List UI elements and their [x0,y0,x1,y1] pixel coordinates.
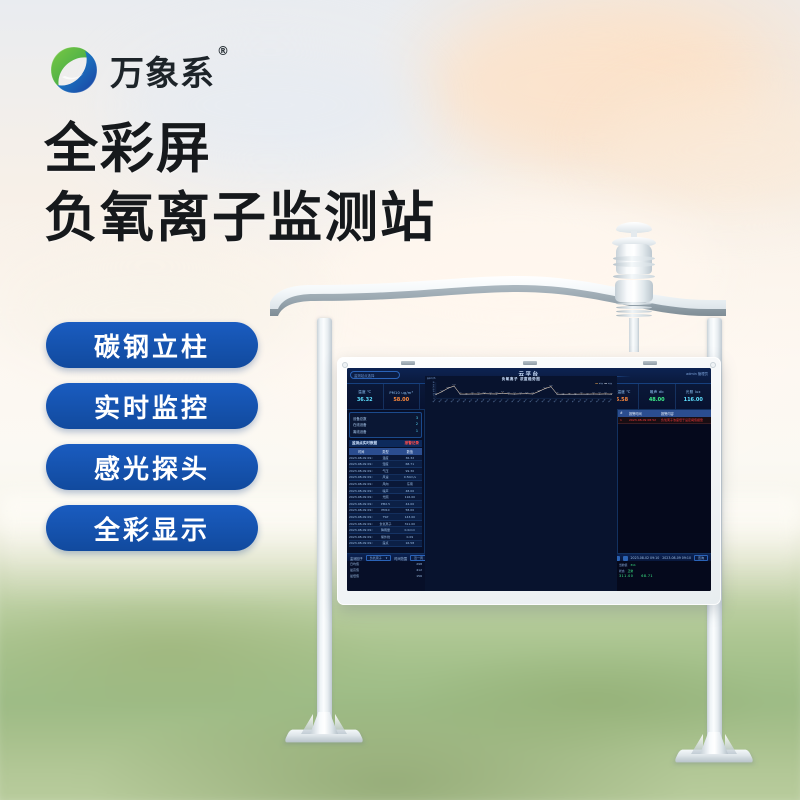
table-body: 2023-08-09 09:10温度36.322023-08-09 09:10湿… [349,455,422,547]
table-row[interactable]: 2023-08-09 09:10TSP143.00 [349,514,422,521]
alarm-cell: 2023-08-09 08:52 [627,417,659,423]
feature-badge-3[interactable]: 感光探头 [46,444,258,490]
side-stat-label: 日均值 [350,562,359,566]
alarm-column-headers: #报警时间报警内容 [618,410,711,417]
alarm-row[interactable]: 12023-08-09 08:52负氧离子浓度低于设定阈值报警 [618,417,711,424]
feature-badge-label: 感光探头 [94,449,210,486]
metric-value: 58.00 [393,397,409,403]
right-stat-label: 状态 [619,569,625,573]
table-row[interactable]: 2023-08-09 09:10降雨量0.0mm [349,527,422,534]
metric-card-1: 温度 ℃36.32 [347,384,384,409]
headline-line-2: 负氧离子监测站 [44,189,436,246]
table-cell: 负氧离子 [373,521,397,527]
table-row[interactable]: 2023-08-09 09:10PM1058.00 [349,508,422,515]
table-cell: 143.00 [398,514,422,520]
side-stat-row: 最低值156 [347,573,425,579]
globe-swirl-logo-icon [48,44,100,96]
table-cell: 2023-08-09 09:10 [349,455,373,461]
table-cell: 噪声 [373,488,397,494]
device-stat-row: 在线设备2 [353,422,418,429]
range-select-value: 近一周 [414,556,423,560]
feature-badge-label: 实时监控 [94,388,210,425]
table-cell: 2023-08-09 09:10 [349,488,373,494]
table-cell: 露点 [373,541,397,547]
control-label-right: 时间范围 [394,556,407,561]
metric-label: 温度 ℃ [358,390,371,395]
table-cell: PM2.5 [373,501,397,507]
table-cell: 气压 [373,468,397,474]
chevron-down-icon: ▾ [386,556,388,560]
table-cell: 降雨量 [373,527,397,533]
table-cell: 36.32 [398,455,422,461]
user-label[interactable]: admin 管理员 [686,371,708,376]
metric-card-2: PM10 ug/m³58.00 [384,384,421,409]
table-heading: 监测点实时数据 [352,441,377,446]
alarm-cell: 负氧离子浓度低于设定阈值报警 [659,417,711,423]
table-cell: PM10 [373,508,397,514]
right-stat-row: 状态正常 [619,569,709,573]
alarm-column-header: 报警内容 [659,410,711,417]
carbon-steel-post-left [317,318,332,724]
table-cell: 2023-08-09 09:10 [349,514,373,520]
table-cell: 99.30 [398,468,422,474]
data-table-header: 监测点实时数据 报警记录 [349,440,422,447]
table-cell: 2023-08-09 09:10 [349,501,373,507]
feature-badge-1[interactable]: 碳钢立柱 [46,322,258,368]
table-cell: 0.0mm [398,527,422,533]
side-stat-value: 412 [416,568,422,572]
feature-badge-2[interactable]: 实时监控 [46,383,258,429]
chart-right-stats: 当前值311状态正常311.0068.71 [617,561,711,591]
device-stat-row: 设备总数3 [353,415,418,422]
device-stats-box: 设备总数3在线设备2离线设备1 [349,412,422,438]
ultrasonic-weather-sensor [604,222,664,322]
table-cell: 2023-08-09 09:10 [349,461,373,467]
metric-label: 噪声 db [650,390,664,395]
table-cell: 0.09 [398,534,422,540]
segment-value: 311.00 [619,574,633,578]
refresh-button[interactable] [623,556,628,561]
table-cell: 2023-08-09 09:10 [349,534,373,540]
brand-name: 万象系 ® [110,46,215,95]
right-segment-display: 311.0068.71 [619,574,709,578]
feature-badge-4[interactable]: 全彩显示 [46,505,258,551]
side-stat-value: 298 [416,562,422,566]
feature-badge-label: 全彩显示 [94,510,210,547]
led-display-monitor: 监测站点选择 云平台 admin 管理员 温度 ℃36.32PM10 ug/m³… [337,357,721,605]
table-cell: 紫外线 [373,534,397,540]
metric-card-10: 光照 lux116.00 [676,384,712,409]
side-stat-label: 最低值 [350,574,359,578]
table-row[interactable]: 2023-08-09 09:10光照116.00 [349,494,422,501]
table-cell: 16.58 [398,541,422,547]
segment-value: 68.71 [641,574,653,578]
dashboard-screen: 监测站点选择 云平台 admin 管理员 温度 ℃36.32PM10 ug/m³… [347,368,711,591]
table-cell: TSP [373,514,397,520]
metric-value: 36.32 [357,397,373,403]
table-row[interactable]: 2023-08-09 09:10温度36.32 [349,455,422,462]
registered-trademark: ® [217,44,230,58]
alarm-column-header: 报警时间 [627,410,659,417]
table-cell: 116.00 [398,494,422,500]
table-cell: 东南 [398,481,422,487]
stat-value: 3 [416,416,418,421]
table-column-header: 类型 [373,448,397,455]
table-row[interactable]: 2023-08-09 09:10气压99.30 [349,468,422,475]
table-cell: 2023-08-09 09:10 [349,475,373,481]
side-stat-label: 最高值 [350,568,359,572]
stat-value: 2 [416,422,418,427]
table-column-header: 时间 [349,448,373,455]
table-cell: 风速 [373,475,397,481]
metric-value: 116.00 [684,397,703,403]
table-cell: 2023-08-09 09:10 [349,527,373,533]
chart-section: 监测因子 负氧离子 ▾ 时间范围 近一周 ▾ 2023-08-02 09:10 … [347,553,711,591]
metric-label: PM10 ug/m³ [389,391,413,395]
right-stat-label: 当前值 [619,563,627,567]
device-stat-row: 离线设备1 [353,428,418,435]
table-cell: 311.00 [398,521,422,527]
stat-label: 在线设备 [353,422,367,427]
table-row[interactable]: 2023-08-09 09:10紫外线0.09 [349,534,422,541]
feature-badge-label: 碳钢立柱 [94,327,210,364]
right-stat-value: 正常 [628,569,634,573]
alarm-tag[interactable]: 报警记录 [405,441,419,446]
brand-lockup: 万象系 ® [48,44,215,96]
base-plate-left [287,712,361,748]
alarm-column-header: # [618,410,627,417]
factor-select-value: 负氧离子 [370,556,382,560]
table-row[interactable]: 2023-08-09 09:10湿度68.71 [349,461,422,468]
stat-value: 1 [416,429,418,434]
alarm-rows: 12023-08-09 08:52负氧离子浓度低于设定阈值报警 [618,417,711,424]
table-cell: 2023-08-09 09:10 [349,494,373,500]
table-cell: 68.71 [398,461,422,467]
left-panel: 设备总数3在线设备2离线设备1 监测点实时数据 报警记录 时间类型数值 2023… [347,410,425,553]
table-row[interactable]: 2023-08-09 09:10PM2.544.00 [349,501,422,508]
table-row[interactable]: 2023-08-09 09:10风向东南 [349,481,422,488]
control-label-left: 监测因子 [350,556,363,561]
stat-label: 离线设备 [353,429,367,434]
table-cell: 2023-08-09 09:10 [349,541,373,547]
trend-chart: ppm/h 负氧离子 浓度趋势图 8.2014.6022.3027.109.40… [425,376,617,591]
table-cell: 2023-08-09 09:10 [349,508,373,514]
table-cell: 温度 [373,455,397,461]
table-cell: 光照 [373,494,397,500]
stat-label: 设备总数 [353,416,367,421]
table-row[interactable]: 2023-08-09 09:10负氧离子311.00 [349,521,422,528]
table-column-header: 数值 [398,448,422,455]
table-cell: 2023-08-09 09:10 [349,481,373,487]
base-plate-right [677,732,751,768]
date-to[interactable]: 2023-08-09 09:10 [662,556,691,560]
metric-label: 光照 lux [686,390,701,395]
mount-tab [523,361,537,365]
alarm-cell: 1 [618,417,627,423]
station-selector[interactable]: 监测站点选择 [350,371,400,379]
table-row[interactable]: 2023-08-09 09:10露点16.58 [349,541,422,548]
table-column-headers: 时间类型数值 [349,448,422,455]
chart-side-stats: 日均值298最高值412最低值156 [347,561,425,591]
table-cell: 风向 [373,481,397,487]
table-cell: 44.00 [398,501,422,507]
feature-badge-list: 碳钢立柱实时监控感光探头全彩显示 [46,322,258,551]
right-stat-row: 当前值311 [619,563,709,567]
chart-plot: 8.2014.6022.3027.109.409.109.609.3010.20… [425,381,617,404]
table-cell: 48.00 [398,488,422,494]
table-cell: 湿度 [373,461,397,467]
chart-unit-label: ppm/h [427,377,435,380]
alarm-panel: #报警时间报警内容 12023-08-09 08:52负氧离子浓度低于设定阈值报… [617,410,711,553]
table-cell: 2023-08-09 09:10 [349,521,373,527]
side-stat-value: 156 [416,574,422,578]
table-row[interactable]: 2023-08-09 09:10风速0.50m/s [349,475,422,482]
headline-block: 全彩屏 负氧离子监测站 [44,120,436,246]
headline-line-1: 全彩屏 [44,120,436,177]
mount-tab [401,361,415,365]
table-cell: 0.50m/s [398,475,422,481]
metric-card-9: 噪声 db48.00 [639,384,676,409]
table-cell: 2023-08-09 09:10 [349,468,373,474]
table-cell: 58.00 [398,508,422,514]
mount-tab [643,361,657,365]
metric-value: 48.00 [649,397,665,403]
table-row[interactable]: 2023-08-09 09:10噪声48.00 [349,488,422,495]
right-stat-value: 311 [630,563,635,567]
date-from[interactable]: 2023-08-02 09:10 [631,556,660,560]
